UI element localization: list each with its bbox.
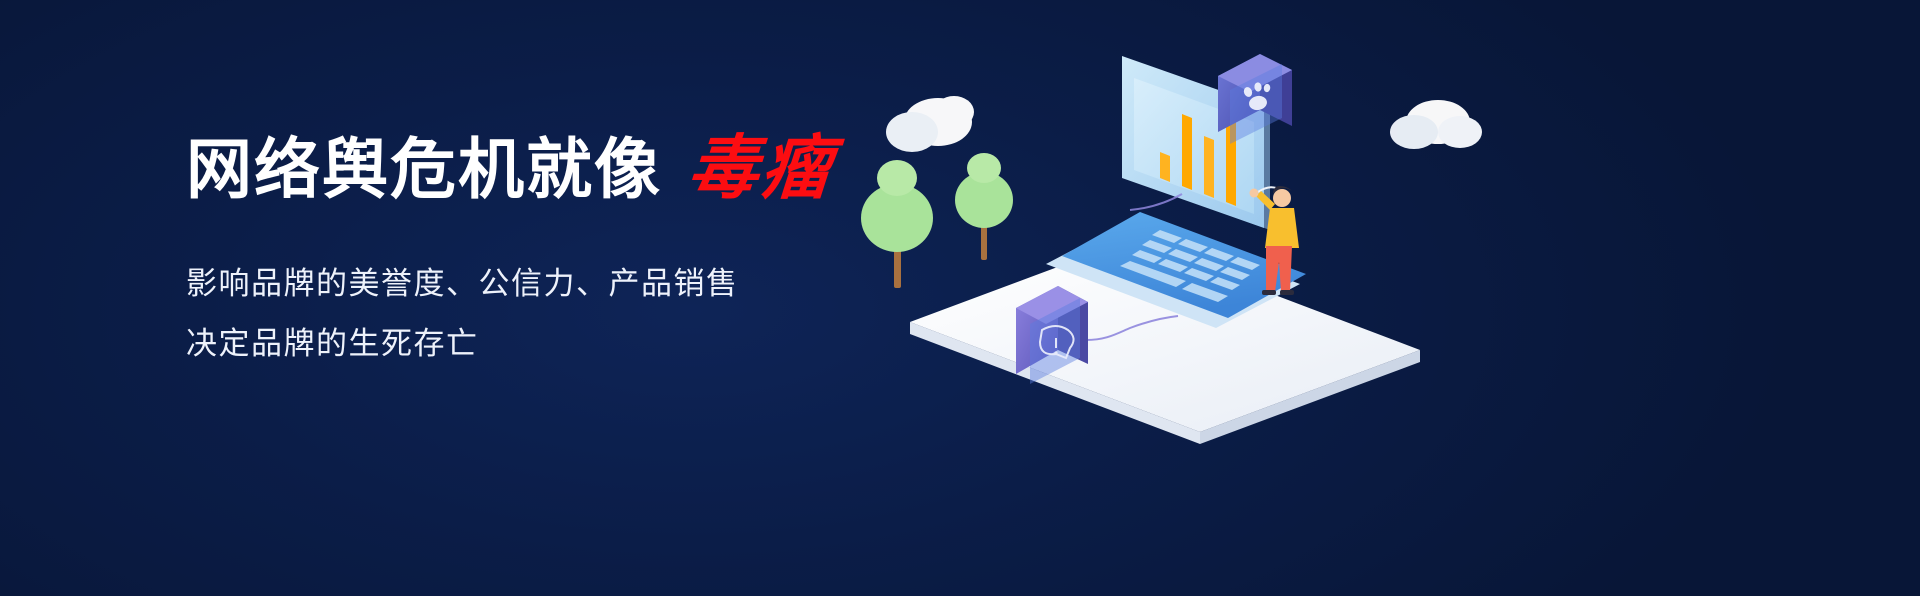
cloud-small-icon: [1390, 100, 1482, 149]
tree-left-icon: [861, 160, 933, 288]
hero-banner: 网络舆危机就像 毒瘤 影响品牌的美誉度、公信力、产品销售 决定品牌的生死存亡: [0, 0, 1920, 596]
headline-accent-text: 毒瘤: [685, 120, 838, 216]
illustration: [830, 40, 1530, 470]
connector-wire-right: [1130, 194, 1182, 210]
tree-right-icon: [955, 153, 1013, 260]
cloud-large-icon: [886, 96, 974, 152]
headline-main-text: 网络舆危机就像: [186, 121, 662, 217]
